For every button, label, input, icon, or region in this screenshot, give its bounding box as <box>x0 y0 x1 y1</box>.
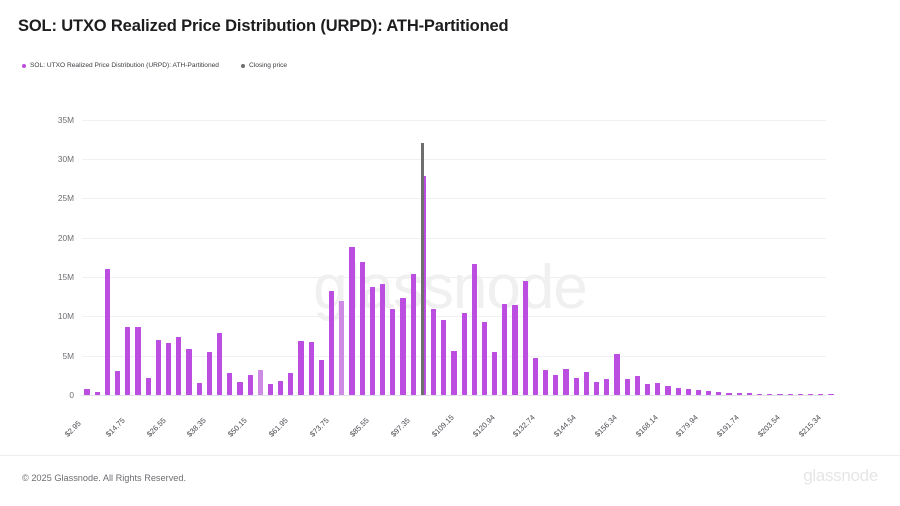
bar[interactable] <box>818 394 823 395</box>
x-axis-tick-label: $215.34 <box>797 413 823 439</box>
x-axis-tick-label: $168.14 <box>634 413 660 439</box>
y-axis-tick-label: 25M <box>38 194 74 202</box>
bar[interactable] <box>604 379 609 395</box>
bar[interactable] <box>472 264 477 395</box>
x-axis-tick-label: $85.55 <box>348 416 371 439</box>
bar[interactable] <box>808 394 813 395</box>
bar[interactable] <box>258 370 263 395</box>
bar[interactable] <box>757 394 762 395</box>
y-axis-tick-label: 35M <box>38 116 74 124</box>
y-axis-tick-label: 15M <box>38 273 74 281</box>
x-axis-tick-label: $191.74 <box>715 413 741 439</box>
bar[interactable] <box>482 322 487 395</box>
bar[interactable] <box>523 281 528 395</box>
x-axis-tick-label: $2.95 <box>63 419 83 439</box>
bar[interactable] <box>207 352 212 395</box>
bar[interactable] <box>594 382 599 395</box>
bar[interactable] <box>696 390 701 395</box>
bar[interactable] <box>462 313 467 395</box>
bar[interactable] <box>655 383 660 395</box>
brand-logo: glassnode <box>803 466 878 486</box>
copyright-text: © 2025 Glassnode. All Rights Reserved. <box>22 473 186 483</box>
bar[interactable] <box>125 327 130 395</box>
bar[interactable] <box>166 343 171 395</box>
bar[interactable] <box>431 309 436 395</box>
x-axis-tick-label: $109.15 <box>430 413 456 439</box>
bar[interactable] <box>115 371 120 395</box>
bar[interactable] <box>349 247 354 395</box>
gridline <box>82 395 826 396</box>
bar[interactable] <box>716 392 721 395</box>
bar[interactable] <box>686 389 691 395</box>
bar[interactable] <box>665 386 670 395</box>
bar[interactable] <box>186 349 191 395</box>
legend-dot-icon <box>241 64 245 68</box>
bar[interactable] <box>95 392 100 395</box>
bar[interactable] <box>512 305 517 395</box>
bar[interactable] <box>645 384 650 395</box>
bar[interactable] <box>828 394 833 395</box>
plot-area <box>82 108 826 395</box>
bar[interactable] <box>319 360 324 395</box>
bar[interactable] <box>197 383 202 395</box>
bar[interactable] <box>451 351 456 395</box>
bar[interactable] <box>798 394 803 395</box>
bar[interactable] <box>217 333 222 395</box>
bar[interactable] <box>625 379 630 395</box>
y-axis-tick-label: 5M <box>38 352 74 360</box>
bar[interactable] <box>84 389 89 395</box>
bar[interactable] <box>574 378 579 395</box>
x-axis-tick-label: $144.54 <box>552 413 578 439</box>
bar[interactable] <box>553 375 558 395</box>
bar[interactable] <box>400 298 405 396</box>
bar[interactable] <box>726 393 731 395</box>
x-axis-tick-label: $73.75 <box>308 416 331 439</box>
chart-page: SOL: UTXO Realized Price Distribution (U… <box>0 0 900 506</box>
y-axis-tick-label: 20M <box>38 234 74 242</box>
bar[interactable] <box>176 337 181 395</box>
bar[interactable] <box>278 381 283 395</box>
bar[interactable] <box>563 369 568 395</box>
bar[interactable] <box>156 340 161 395</box>
x-axis-tick-label: $156.34 <box>593 413 619 439</box>
bar[interactable] <box>248 375 253 395</box>
bar[interactable] <box>788 394 793 395</box>
y-axis-tick-label: 10M <box>38 312 74 320</box>
bar[interactable] <box>502 304 507 395</box>
bar[interactable] <box>370 287 375 396</box>
x-axis-labels: $2.95$14.75$26.55$38.35$50.15$61.95$73.7… <box>82 397 826 443</box>
bar[interactable] <box>543 370 548 395</box>
x-axis-tick-label: $50.15 <box>226 416 249 439</box>
x-axis-tick-label: $179.94 <box>674 413 700 439</box>
bar[interactable] <box>737 393 742 395</box>
chart-legend: SOL: UTXO Realized Price Distribution (U… <box>22 62 287 69</box>
bar[interactable] <box>309 342 314 395</box>
bar[interactable] <box>584 372 589 395</box>
bar[interactable] <box>767 394 772 395</box>
bar[interactable] <box>146 378 151 395</box>
x-axis-tick-label: $132.74 <box>511 413 537 439</box>
x-axis-tick-label: $120.94 <box>471 413 497 439</box>
x-axis-tick-label: $26.55 <box>145 416 168 439</box>
bar-series <box>82 108 826 395</box>
bar[interactable] <box>676 388 681 395</box>
bar[interactable] <box>747 393 752 395</box>
closing-price-marker[interactable] <box>421 143 424 395</box>
legend-item-0[interactable]: SOL: UTXO Realized Price Distribution (U… <box>22 62 219 69</box>
bar[interactable] <box>533 358 538 395</box>
bar[interactable] <box>105 269 110 395</box>
page-title: SOL: UTXO Realized Price Distribution (U… <box>18 17 508 36</box>
bar[interactable] <box>706 391 711 395</box>
y-axis-tick-label: 30M <box>38 155 74 163</box>
bar[interactable] <box>411 274 416 395</box>
bar[interactable] <box>380 284 385 395</box>
bar[interactable] <box>441 320 446 395</box>
bar[interactable] <box>492 352 497 395</box>
bar[interactable] <box>237 382 242 395</box>
bar[interactable] <box>298 341 303 395</box>
bar[interactable] <box>390 309 395 395</box>
x-axis-tick-label: $38.35 <box>185 416 208 439</box>
legend-item-1[interactable]: Closing price <box>241 62 287 69</box>
legend-item-label: SOL: UTXO Realized Price Distribution (U… <box>30 62 219 69</box>
legend-dot-icon <box>22 64 26 68</box>
bar[interactable] <box>614 354 619 395</box>
bar[interactable] <box>360 262 365 395</box>
y-axis-tick-label: 0 <box>38 391 74 399</box>
x-axis-tick-label: $97.35 <box>389 416 412 439</box>
bar[interactable] <box>635 376 640 395</box>
bar[interactable] <box>339 301 344 395</box>
x-axis-tick-label: $14.75 <box>104 416 127 439</box>
x-axis-tick-label: $203.54 <box>756 413 782 439</box>
x-axis-tick-label: $61.95 <box>267 416 290 439</box>
bar[interactable] <box>135 327 140 395</box>
bar[interactable] <box>288 373 293 395</box>
footer-divider <box>0 455 900 456</box>
bar[interactable] <box>329 291 334 395</box>
bar[interactable] <box>227 373 232 395</box>
bar[interactable] <box>268 384 273 395</box>
bar[interactable] <box>777 394 782 395</box>
legend-item-label: Closing price <box>249 62 287 69</box>
